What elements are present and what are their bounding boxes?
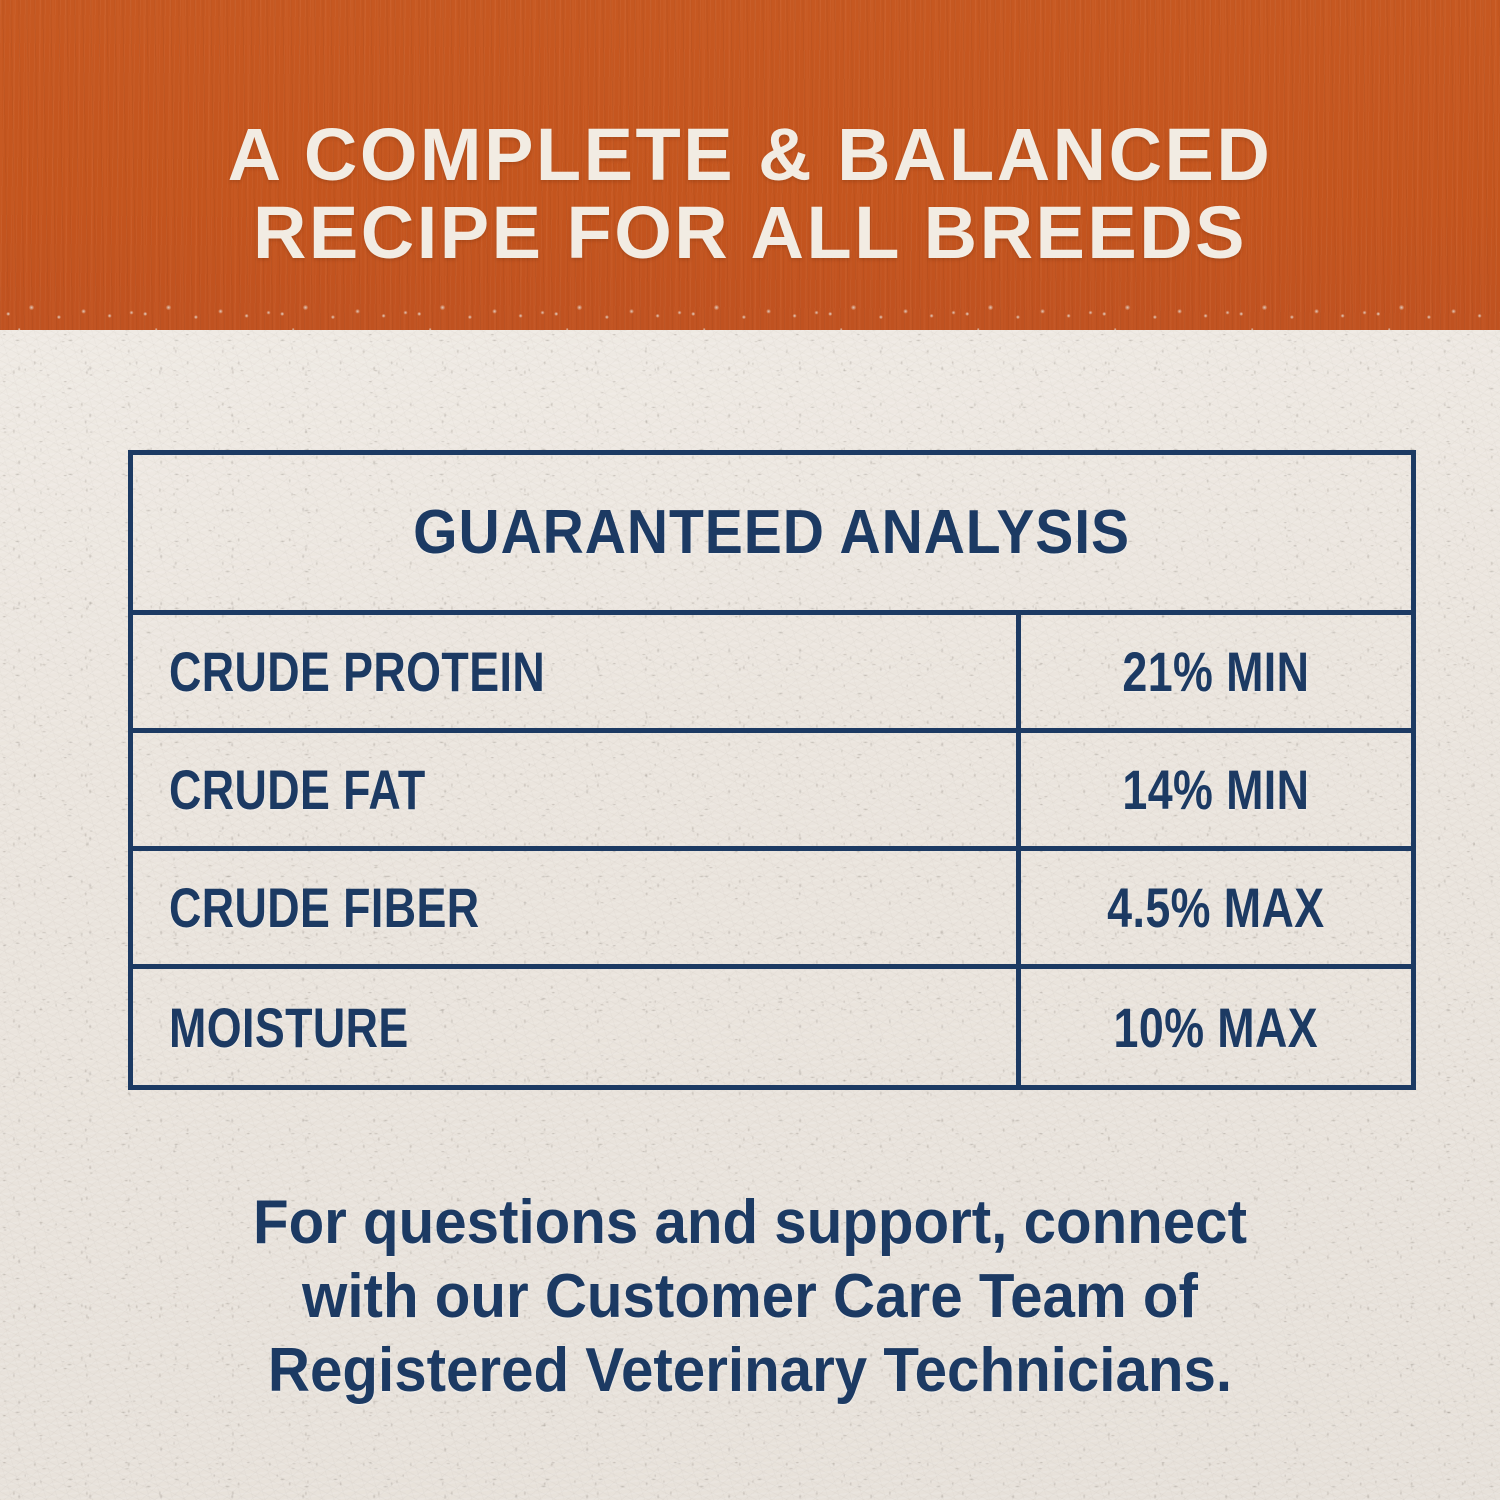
nutrient-value: 21% MIN [1122,643,1309,701]
analysis-title: GUARANTEED ANALYSIS [414,497,1131,568]
value-cell: 10% MAX [1021,969,1411,1087]
nutrient-cell: CRUDE FIBER [133,851,1021,964]
nutrient-value: 14% MIN [1122,761,1309,819]
value-cell: 14% MIN [1021,733,1411,846]
nutrient-value: 10% MAX [1114,999,1318,1057]
banner-headline: A COMPLETE & BALANCED RECIPE FOR ALL BRE… [0,116,1500,272]
nutrient-value: 4.5% MAX [1107,879,1324,937]
nutrient-label: MOISTURE [169,999,409,1057]
nutrient-label: CRUDE PROTEIN [169,643,545,701]
table-row: CRUDE FAT 14% MIN [133,733,1411,851]
support-note-line-1: For questions and support, connect [158,1186,1342,1260]
table-row: CRUDE FIBER 4.5% MAX [133,851,1411,969]
table-row: MOISTURE 10% MAX [133,969,1411,1087]
support-note-line-3: Registered Veterinary Technicians. [158,1334,1342,1408]
nutrient-cell: CRUDE FAT [133,733,1021,846]
customer-support-note: For questions and support, connect with … [158,1186,1342,1408]
nutrient-label: CRUDE FAT [169,761,426,819]
headline-line-2: RECIPE FOR ALL BREEDS [0,194,1500,272]
nutrient-cell: CRUDE PROTEIN [133,615,1021,728]
value-cell: 4.5% MAX [1021,851,1411,964]
analysis-title-row: GUARANTEED ANALYSIS [133,455,1411,615]
table-row: CRUDE PROTEIN 21% MIN [133,615,1411,733]
headline-line-1: A COMPLETE & BALANCED [0,116,1500,194]
nutrient-cell: MOISTURE [133,969,1021,1087]
nutrient-label: CRUDE FIBER [169,879,480,937]
pet-food-packaging-panel: A COMPLETE & BALANCED RECIPE FOR ALL BRE… [0,0,1500,1500]
orange-band-torn-edge [0,300,1500,420]
support-note-line-2: with our Customer Care Team of [158,1260,1342,1334]
value-cell: 21% MIN [1021,615,1411,728]
guaranteed-analysis-table: GUARANTEED ANALYSIS CRUDE PROTEIN 21% MI… [128,450,1416,1090]
